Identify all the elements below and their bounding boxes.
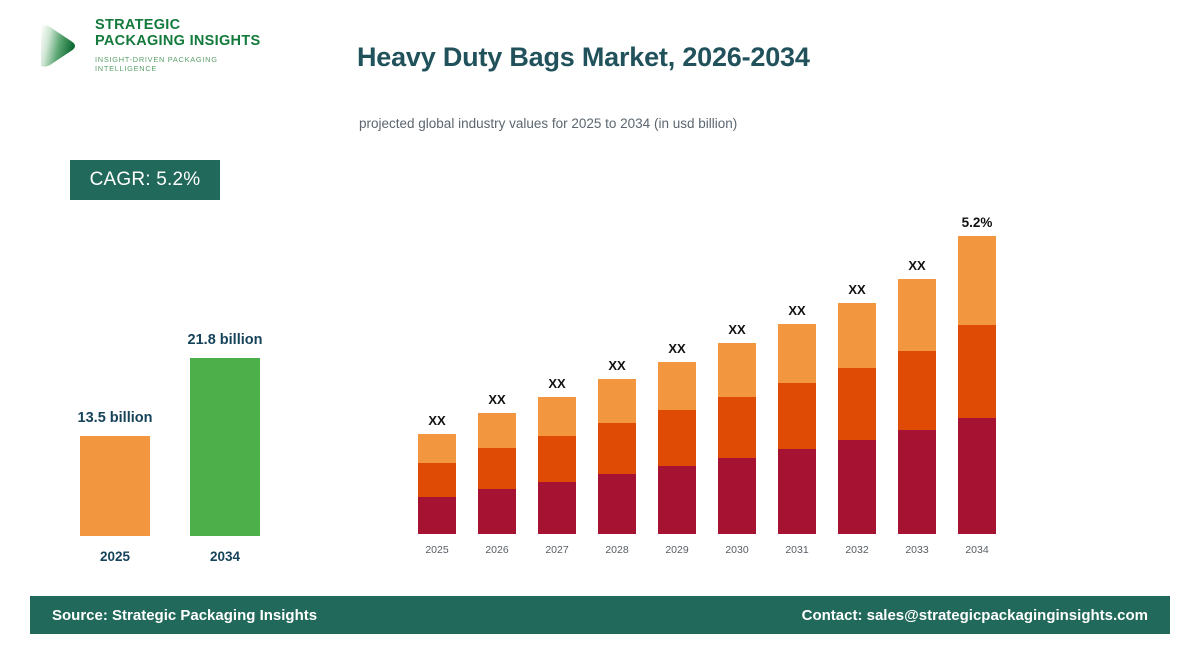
summary-bar-x-label: 2034 [190, 549, 260, 564]
stacked-bar-segment-bottom [898, 430, 936, 534]
stacked-bar-group: XX2030 [718, 226, 756, 560]
stacked-bar-segment-bottom [478, 489, 516, 534]
stacked-bar-segment-middle [838, 368, 876, 440]
stacked-bar [838, 303, 876, 534]
stacked-bar-x-label: 2028 [591, 544, 643, 556]
stacked-bar-group: XX2032 [838, 226, 876, 560]
stacked-bar-segment-top [478, 413, 516, 448]
footer-bar: Source: Strategic Packaging Insights Con… [30, 596, 1170, 634]
stacked-bar-segment-top [538, 397, 576, 436]
cagr-badge-label: CAGR: 5.2% [90, 169, 201, 191]
stacked-bar-top-label: XX [397, 413, 477, 428]
stacked-bar-segment-bottom [658, 466, 696, 534]
stacked-bar-segment-middle [478, 448, 516, 489]
stacked-bar-segment-bottom [958, 418, 996, 534]
stacked-bar-segment-top [658, 362, 696, 410]
summary-bar-group: 13.5 billion [80, 436, 150, 536]
stacked-bar-x-label: 2034 [951, 544, 1003, 556]
stacked-bar-segment-bottom [598, 474, 636, 534]
page-title: Heavy Duty Bags Market, 2026-2034 [357, 42, 810, 73]
stacked-bar-segment-middle [598, 423, 636, 474]
stacked-bar-segment-middle [418, 463, 456, 497]
stacked-bar-segment-top [718, 343, 756, 397]
stacked-bar-group: XX2027 [538, 226, 576, 560]
footer-contact-label: Contact: sales@strategicpackaginginsight… [802, 607, 1148, 624]
stacked-bar-segment-bottom [418, 497, 456, 534]
stacked-bar-group: XX2029 [658, 226, 696, 560]
stacked-bar-x-label: 2026 [471, 544, 523, 556]
stacked-bar [958, 236, 996, 534]
stacked-bar-group: XX2031 [778, 226, 816, 560]
stacked-bar [898, 279, 936, 534]
stacked-bar [658, 362, 696, 534]
stacked-bar-segment-top [898, 279, 936, 351]
stacked-bar-top-label: XX [457, 392, 537, 407]
brand-logo: STRATEGIC PACKAGING INSIGHTS INSIGHT-DRI… [33, 18, 263, 78]
stacked-bar-top-label: XX [877, 258, 957, 273]
summary-bar-group: 21.8 billion [190, 358, 260, 536]
stacked-bar-group: 5.2%2034 [958, 226, 996, 560]
stacked-bar-segment-middle [538, 436, 576, 482]
summary-bar-x-label: 2025 [80, 549, 150, 564]
stacked-bar-x-label: 2027 [531, 544, 583, 556]
stacked-bar [778, 324, 816, 534]
logo-text-line1: STRATEGIC [95, 18, 263, 34]
stacked-bar-x-label: 2030 [711, 544, 763, 556]
logo-text-line2: PACKAGING INSIGHTS [95, 34, 263, 50]
stacked-bar-group: XX2025 [418, 226, 456, 560]
summary-bar [80, 436, 150, 536]
stacked-bar [598, 379, 636, 534]
stacked-bar-x-label: 2025 [411, 544, 463, 556]
cagr-badge: CAGR: 5.2% [70, 160, 220, 200]
stacked-bar-segment-middle [718, 397, 756, 458]
stacked-bar-segment-bottom [718, 458, 756, 534]
stacked-bar [538, 397, 576, 534]
stacked-bar-segment-top [778, 324, 816, 383]
stacked-bar-top-label: XX [697, 322, 777, 337]
summary-bar-value-label: 13.5 billion [15, 410, 215, 426]
stacked-bar-segment-top [418, 434, 456, 463]
stacked-bar-segment-bottom [538, 482, 576, 534]
stacked-bar-segment-middle [898, 351, 936, 430]
summary-bar-chart: 13.5 billion202521.8 billion2034 [60, 300, 290, 570]
stacked-bar-segment-top [838, 303, 876, 368]
summary-bar [190, 358, 260, 536]
stacked-bar-group: XX2028 [598, 226, 636, 560]
stacked-bar-segment-top [598, 379, 636, 423]
stacked-bar-segment-middle [778, 383, 816, 449]
stacked-bar-x-label: 2032 [831, 544, 883, 556]
logo-tagline: INSIGHT-DRIVEN PACKAGING INTELLIGENCE [95, 55, 263, 73]
stacked-bar [418, 434, 456, 534]
stacked-bar-segment-middle [958, 325, 996, 418]
page-subtitle: projected global industry values for 202… [359, 116, 737, 131]
stacked-bar-top-label: XX [637, 341, 717, 356]
stacked-bar [478, 413, 516, 534]
stacked-bar-x-label: 2033 [891, 544, 943, 556]
stacked-bar-top-label: XX [757, 303, 837, 318]
stacked-bar-group: XX2026 [478, 226, 516, 560]
footer-source-label: Source: Strategic Packaging Insights [52, 607, 317, 624]
stacked-bar-segment-middle [658, 410, 696, 466]
stacked-bar-x-label: 2029 [651, 544, 703, 556]
stacked-bar-segment-top [958, 236, 996, 325]
stacked-bar-top-label: XX [817, 282, 897, 297]
chevron-right-icon [33, 20, 85, 72]
stacked-bar-group: XX2033 [898, 226, 936, 560]
stacked-bar-top-label: XX [517, 376, 597, 391]
stacked-bar-top-label: XX [577, 358, 657, 373]
stacked-bar-segment-bottom [838, 440, 876, 534]
forecast-stacked-bar-chart: XX2025XX2026XX2027XX2028XX2029XX2030XX20… [415, 200, 1015, 560]
stacked-bar-top-label: 5.2% [937, 215, 1017, 230]
stacked-bar-x-label: 2031 [771, 544, 823, 556]
summary-bar-value-label: 21.8 billion [125, 332, 325, 348]
stacked-bar-segment-bottom [778, 449, 816, 534]
stacked-bar [718, 343, 756, 534]
